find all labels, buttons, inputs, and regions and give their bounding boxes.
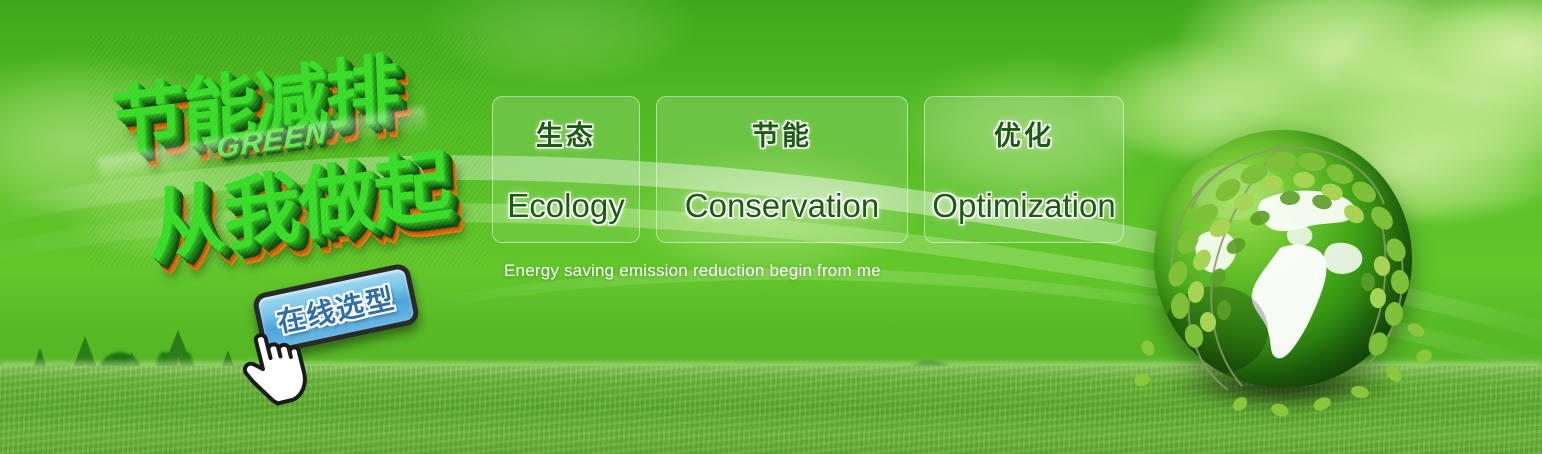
pointing-hand-cursor-icon: [238, 320, 320, 406]
card-title-cn: 节能: [752, 114, 812, 153]
feature-card-optimization[interactable]: 优化 Optimization: [924, 96, 1124, 243]
card-title-cn: 优化: [994, 114, 1054, 153]
feature-card-ecology[interactable]: 生态 Ecology: [492, 96, 640, 243]
card-title-en: Conservation: [685, 187, 879, 225]
eco-hero-banner: 节能减排 从我做起 GREEN 在线选型: [0, 0, 1542, 454]
feature-card-list: 生态 Ecology 节能 Conservation 优化 Optimizati…: [492, 96, 1124, 243]
leafy-earth-globe-icon: [1132, 118, 1432, 428]
card-title-en: Ecology: [507, 187, 624, 225]
feature-card-conservation[interactable]: 节能 Conservation: [656, 96, 908, 243]
tagline: Energy saving emission reduction begin f…: [504, 261, 881, 281]
card-title-en: Optimization: [932, 187, 1115, 225]
title-artwork: 节能减排 从我做起 GREEN: [88, 36, 488, 266]
card-title-cn: 生态: [536, 114, 596, 153]
globe-vines: [1132, 118, 1432, 428]
